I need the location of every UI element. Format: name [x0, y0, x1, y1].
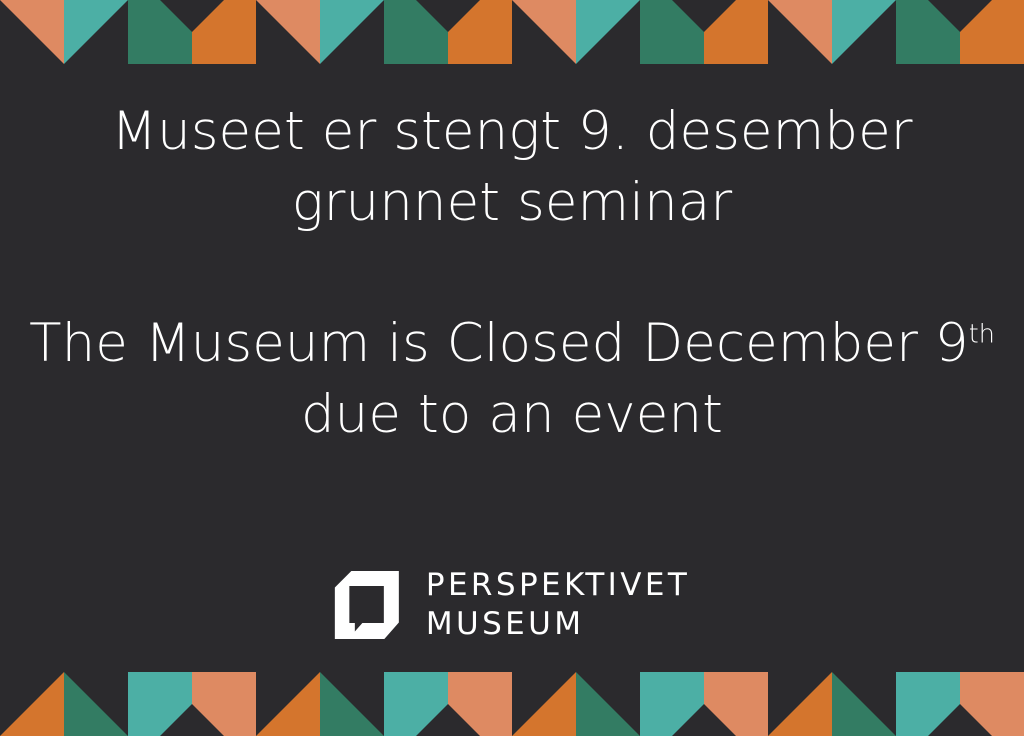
ordinal-suffix: th: [969, 318, 995, 348]
english-line-2: due to an event: [0, 379, 1024, 450]
logo-mark-graphic: [334, 570, 400, 640]
logo-wordmark: PERSPEKTIVET MUSEUM: [426, 566, 690, 644]
message-norwegian: Museet er stengt 9. desember grunnet sem…: [0, 96, 1024, 238]
english-line-1-text: The Museum is Closed December 9: [29, 313, 969, 374]
top-pattern-graphic: [0, 0, 1024, 72]
bottom-decorative-border: [0, 664, 1024, 736]
poster-canvas: Museet er stengt 9. desember grunnet sem…: [0, 0, 1024, 736]
message-english: The Museum is Closed December 9th due to…: [0, 308, 1024, 450]
notice-message: Museet er stengt 9. desember grunnet sem…: [0, 96, 1024, 450]
bottom-pattern-graphic: [0, 664, 1024, 736]
norwegian-line-1: Museet er stengt 9. desember: [0, 96, 1024, 167]
perspektivet-museum-mark-icon: [334, 570, 400, 640]
english-line-1: The Museum is Closed December 9th: [0, 308, 1024, 379]
top-decorative-border: [0, 0, 1024, 72]
logo-wordmark-line-2: MUSEUM: [426, 605, 690, 644]
museum-logo: PERSPEKTIVET MUSEUM: [334, 566, 690, 644]
logo-wordmark-line-1: PERSPEKTIVET: [426, 566, 690, 605]
norwegian-line-2: grunnet seminar: [0, 167, 1024, 238]
